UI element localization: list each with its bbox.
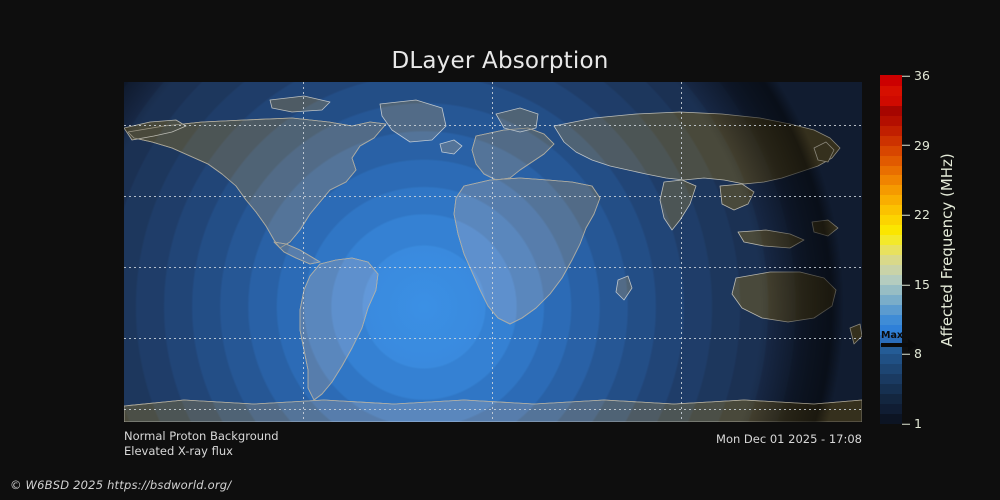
colorbar-band (880, 394, 902, 405)
colorbar-band (880, 105, 902, 116)
colorbar-band (880, 374, 902, 385)
colorbar-tick: 1 (902, 418, 922, 431)
colorbar-band (880, 75, 902, 86)
colorbar-band (880, 294, 902, 305)
page-title: DLayer Absorption (0, 48, 1000, 74)
world-map-svg (124, 82, 862, 422)
tick-label: 1 (914, 418, 922, 431)
colorbar-band (880, 274, 902, 285)
tick-dash-icon (902, 76, 910, 77)
tick-label: 29 (914, 139, 930, 152)
timestamp-text: Mon Dec 01 2025 - 17:08 (560, 432, 862, 447)
tick-label: 36 (914, 70, 930, 83)
colorbar-tick: 22 (902, 209, 930, 222)
colorbar-band (880, 205, 902, 216)
tick-label: 22 (914, 209, 930, 222)
colorbar-max-annotation: Max (880, 331, 916, 355)
colorbar-band (880, 175, 902, 186)
tick-dash-icon (902, 215, 910, 216)
colorbar-band (880, 364, 902, 375)
colorbar-band (880, 264, 902, 275)
colorbar-band (880, 254, 902, 265)
tick-label: 15 (914, 279, 930, 292)
colorbar-title-label: Affected Frequency (MHz) (938, 153, 956, 347)
colorbar-band (880, 85, 902, 96)
colorbar-title: Affected Frequency (MHz) (934, 76, 960, 424)
colorbar-band (880, 314, 902, 325)
colorbar-band (880, 125, 902, 136)
colorbar-band (880, 404, 902, 415)
colorbar-band (880, 384, 902, 395)
colorbar-band (880, 235, 902, 246)
footer-credit: © W6BSD 2025 https://bsdworld.org/ (10, 478, 231, 492)
colorbar-tick: 15 (902, 279, 930, 292)
colorbar-band (880, 185, 902, 196)
colorbar-band (880, 244, 902, 255)
colorbar-band (880, 215, 902, 226)
colorbar-tick: 36 (902, 70, 930, 83)
colorbar-tick: 29 (902, 139, 930, 152)
tick-dash-icon (902, 284, 910, 285)
colorbar-band (880, 225, 902, 236)
status-notes: Normal Proton Background Elevated X-ray … (124, 429, 279, 459)
proton-status-text: Normal Proton Background (124, 429, 279, 444)
colorbar-band (880, 95, 902, 106)
xray-status-text: Elevated X-ray flux (124, 444, 279, 459)
max-label: Max (881, 331, 903, 341)
tick-dash-icon (902, 145, 910, 146)
colorbar-band (880, 145, 902, 156)
colorbar-band (880, 195, 902, 206)
screenshot-root: DLayer Absorption (0, 0, 1000, 500)
colorbar[interactable] (880, 76, 902, 424)
colorbar-band (880, 135, 902, 146)
colorbar-band (880, 413, 902, 424)
max-arrow-icon (881, 343, 909, 347)
tick-dash-icon (902, 424, 910, 425)
colorbar-band (880, 165, 902, 176)
colorbar-band (880, 284, 902, 295)
colorbar-band (880, 354, 902, 365)
colorbar-gradient (880, 76, 902, 424)
colorbar-band (880, 115, 902, 126)
colorbar-band (880, 155, 902, 166)
world-map-panel[interactable] (124, 82, 862, 422)
colorbar-band (880, 304, 902, 315)
